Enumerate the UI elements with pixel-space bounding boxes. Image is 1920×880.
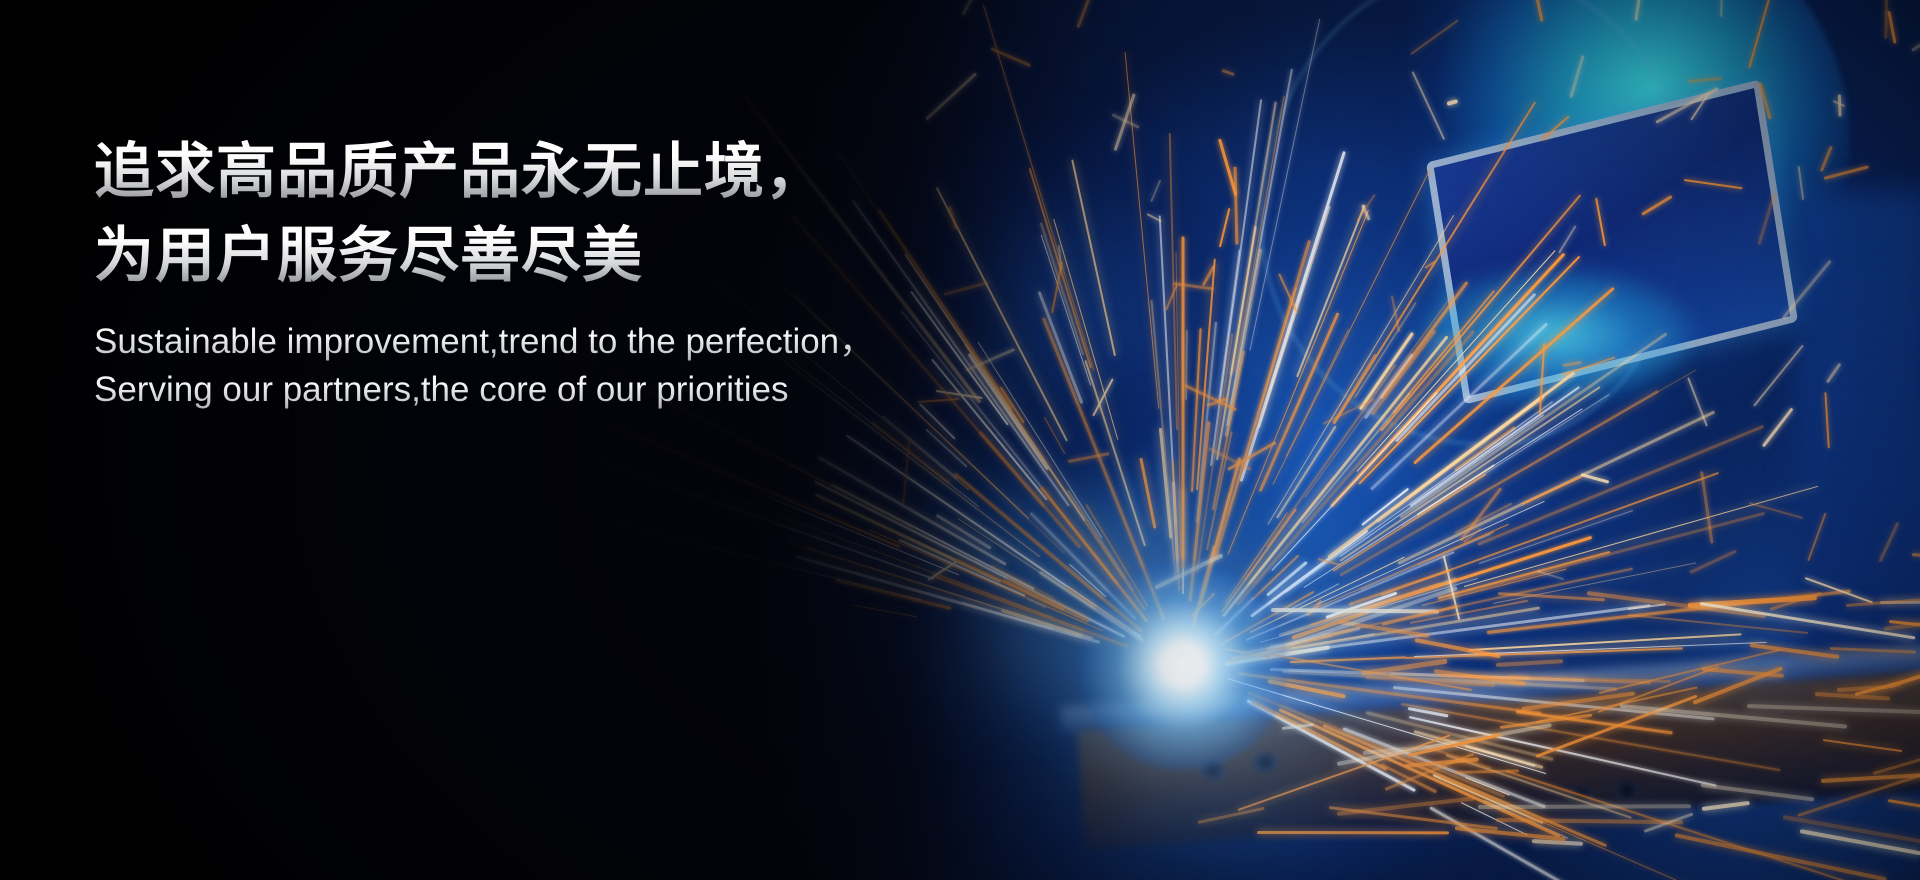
banner-copy: 追求高品质产品永无止境， 为用户服务尽善尽美 Sustainable impro… xyxy=(94,130,994,414)
headline-line-2: 为用户服务尽善尽美 xyxy=(94,214,994,298)
subheadline-line-2: Serving our partners,the core of our pri… xyxy=(94,366,994,414)
subheadline-line-1: Sustainable improvement,trend to the per… xyxy=(94,318,994,366)
hero-banner: 追求高品质产品永无止境， 为用户服务尽善尽美 Sustainable impro… xyxy=(0,0,1920,880)
subheadline-block: Sustainable improvement,trend to the per… xyxy=(94,318,994,414)
headline-line-1: 追求高品质产品永无止境， xyxy=(94,130,994,214)
